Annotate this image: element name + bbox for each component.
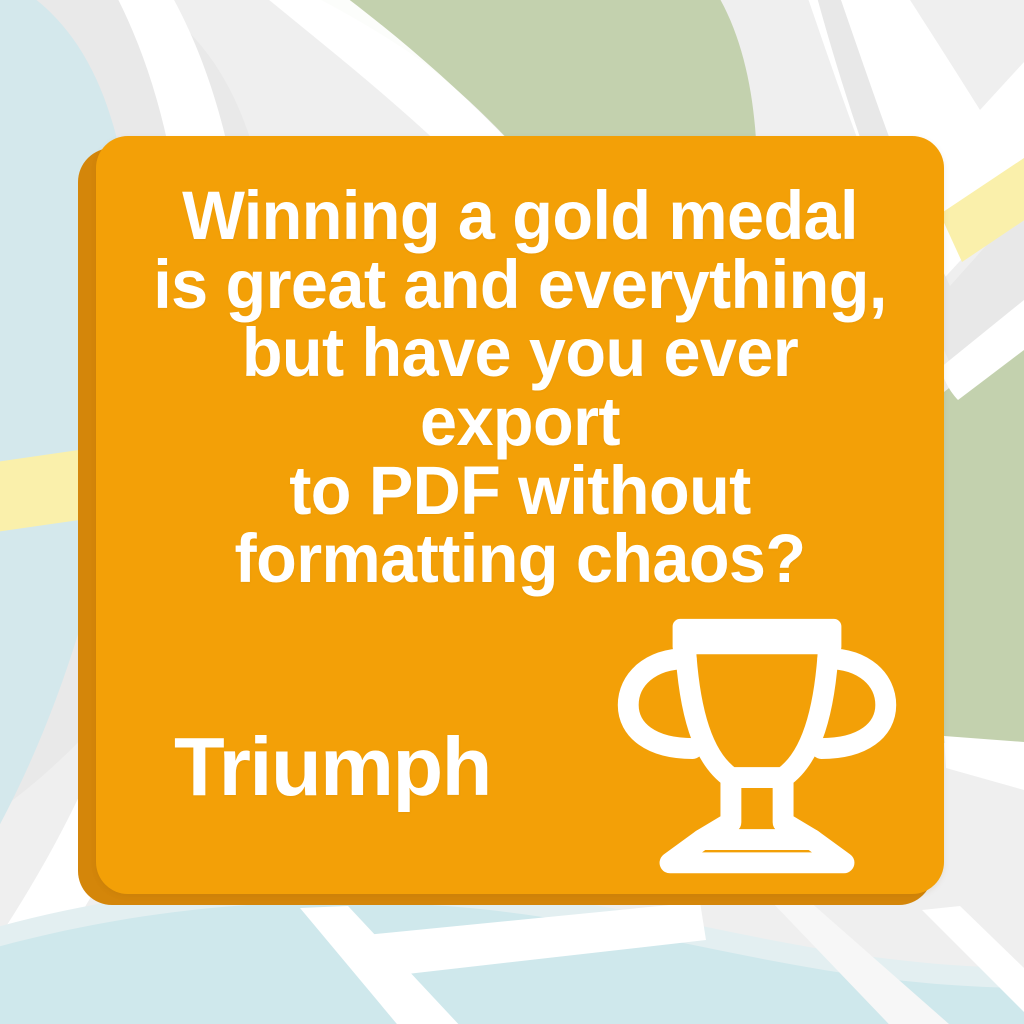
poster-canvas: Winning a gold medal is great and everyt… <box>0 0 1024 1024</box>
quote-card: Winning a gold medal is great and everyt… <box>96 136 944 894</box>
card-content: Winning a gold medal is great and everyt… <box>96 136 944 894</box>
headline-text: Winning a gold medal is great and everyt… <box>144 182 897 594</box>
bg-shape-green-right <box>932 330 1024 760</box>
trophy-icon <box>612 596 902 886</box>
brand-name: Triumph <box>174 725 491 808</box>
